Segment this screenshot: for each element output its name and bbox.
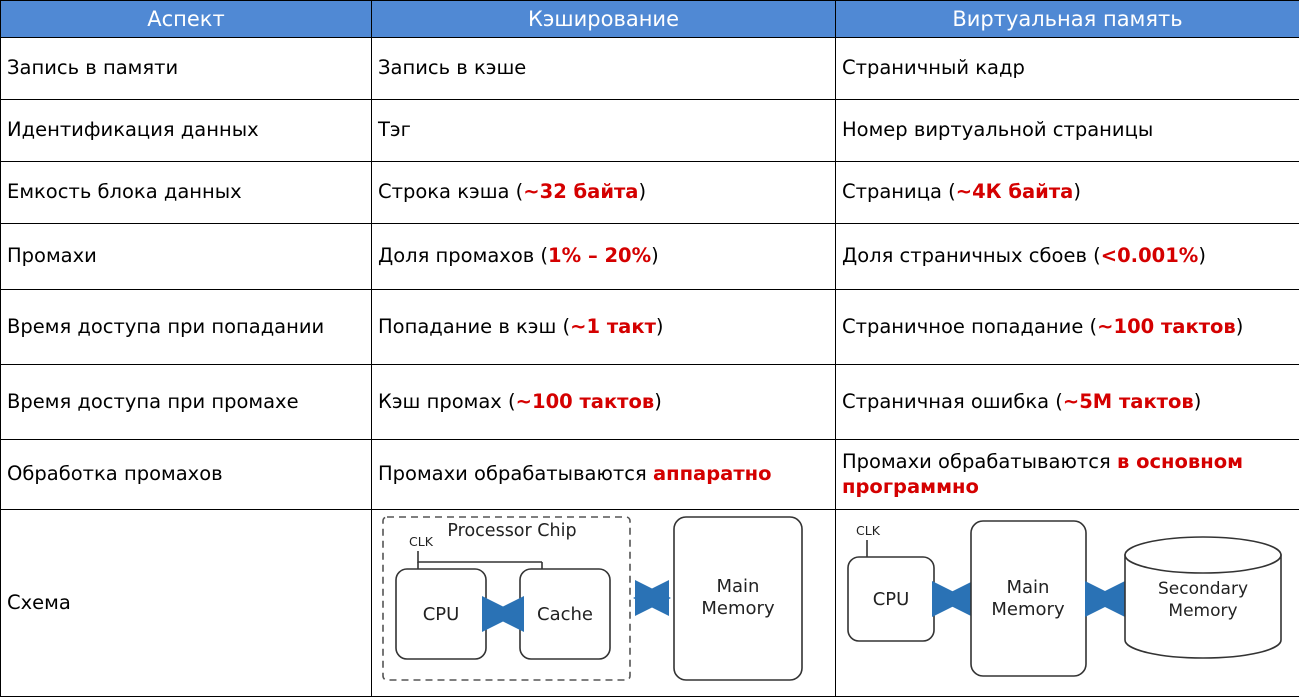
- cache-architecture-diagram: Processor Chip CLK CPU: [372, 510, 835, 696]
- row-vm-value: Страничное попадание (~100 тактов): [836, 290, 1299, 365]
- row-aspect-label: Идентификация данных: [1, 100, 372, 162]
- row-vm-value: Страничный кадр: [836, 38, 1299, 100]
- table-row: Емкость блока данных Строка кэша (~32 ба…: [1, 162, 1299, 224]
- text-plain-tail: ): [1236, 315, 1244, 338]
- text-highlight: ~100 тактов: [516, 390, 655, 413]
- table-row: Промахи Доля промахов (1% – 20%) Доля ст…: [1, 224, 1299, 290]
- cpu-box-label: CPU: [423, 604, 460, 625]
- row-vm-value: Страничная ошибка (~5М тактов): [836, 365, 1299, 440]
- row-cache-value: Промахи обрабатываются аппаратно: [372, 440, 836, 510]
- row-cache-value: Попадание в кэш (~1 такт): [372, 290, 836, 365]
- text-highlight: ~4К байта: [956, 180, 1074, 203]
- table-row: Время доступа при попадании Попадание в …: [1, 290, 1299, 365]
- text-highlight: ~32 байта: [523, 180, 638, 203]
- clock-bus: [418, 551, 542, 562]
- row-aspect-label: Обработка промахов: [1, 440, 372, 510]
- cache-architecture-diagram-cell: Processor Chip CLK CPU: [372, 510, 836, 697]
- row-aspect-label: Время доступа при промахе: [1, 365, 372, 440]
- text-highlight: ~5М тактов: [1063, 390, 1194, 413]
- table-body: Запись в памяти Запись в кэше Страничный…: [1, 38, 1299, 697]
- text-plain: Доля страничных сбоев (: [842, 244, 1101, 267]
- text-plain: Доля промахов (: [378, 244, 548, 267]
- text-plain-tail: ): [656, 315, 664, 338]
- column-header-caching: Кэширование: [372, 1, 836, 38]
- cache-box-label: Cache: [537, 604, 593, 625]
- row-cache-value: Кэш промах (~100 тактов): [372, 365, 836, 440]
- text-highlight: ~1 такт: [570, 315, 656, 338]
- comparison-table: Аспект Кэширование Виртуальная память За…: [0, 0, 1299, 697]
- text-highlight: ~100 тактов: [1097, 315, 1236, 338]
- table-row: Идентификация данных Тэг Номер виртуальн…: [1, 100, 1299, 162]
- row-cache-value: Строка кэша (~32 байта): [372, 162, 836, 224]
- text-plain: Номер виртуальной страницы: [842, 118, 1153, 141]
- row-cache-value: Тэг: [372, 100, 836, 162]
- text-plain: Кэш промах (: [378, 390, 516, 413]
- virtual-memory-architecture-diagram-cell: CLK CPU Main Memory: [836, 510, 1299, 697]
- cpu-box-label: CPU: [873, 589, 910, 610]
- row-vm-value: Номер виртуальной страницы: [836, 100, 1299, 162]
- row-cache-value: Запись в кэше: [372, 38, 836, 100]
- table-row: Запись в памяти Запись в кэше Страничный…: [1, 38, 1299, 100]
- table-row: Обработка промахов Промахи обрабатываютс…: [1, 440, 1299, 510]
- text-plain-tail: ): [1198, 244, 1206, 267]
- text-plain: Промахи обрабатываются: [378, 462, 653, 485]
- column-header-virtual-memory: Виртуальная память: [836, 1, 1299, 38]
- text-plain-tail: ): [638, 180, 646, 203]
- main-memory-label-line2: Memory: [991, 599, 1065, 620]
- row-aspect-label: Емкость блока данных: [1, 162, 372, 224]
- text-plain-tail: ): [1073, 180, 1081, 203]
- text-highlight: аппаратно: [653, 462, 772, 485]
- main-memory-label-line1: Main: [1007, 577, 1050, 598]
- table-row: Время доступа при промахе Кэш промах (~1…: [1, 365, 1299, 440]
- text-plain-tail: ): [651, 244, 659, 267]
- text-plain: Страничное попадание (: [842, 315, 1097, 338]
- vm-diagram-svg: CLK CPU Main Memory: [836, 510, 1298, 694]
- clk-label: CLK: [856, 523, 881, 538]
- text-plain-tail: ): [1194, 390, 1202, 413]
- text-highlight: <0.001%: [1101, 244, 1199, 267]
- row-cache-value: Доля промахов (1% – 20%): [372, 224, 836, 290]
- text-plain: Промахи обрабатываются: [842, 450, 1117, 473]
- row-vm-value: Доля страничных сбоев (<0.001%): [836, 224, 1299, 290]
- text-plain: Строка кэша (: [378, 180, 523, 203]
- text-plain: Страничный кадр: [842, 56, 1025, 79]
- table-header-row: Аспект Кэширование Виртуальная память: [1, 1, 1299, 38]
- cache-diagram-svg: Processor Chip CLK CPU: [372, 510, 834, 694]
- text-highlight: 1% – 20%: [548, 244, 651, 267]
- secondary-memory-label-line1: Secondary: [1158, 579, 1248, 599]
- row-aspect-label: Схема: [1, 510, 372, 697]
- row-aspect-label: Время доступа при попадании: [1, 290, 372, 365]
- secondary-memory-label-line2: Memory: [1168, 601, 1237, 621]
- virtual-memory-architecture-diagram: CLK CPU Main Memory: [836, 510, 1299, 696]
- row-aspect-label: Запись в памяти: [1, 38, 372, 100]
- text-plain: Страничная ошибка (: [842, 390, 1063, 413]
- column-header-aspect: Аспект: [1, 1, 372, 38]
- row-vm-value: Страница (~4К байта): [836, 162, 1299, 224]
- processor-chip-label: Processor Chip: [447, 521, 576, 541]
- text-plain: Попадание в кэш (: [378, 315, 570, 338]
- row-vm-value: Промахи обрабатываются в основном програ…: [836, 440, 1299, 510]
- main-memory-label-line2: Memory: [701, 598, 775, 619]
- table-row-scheme: Схема: [1, 510, 1299, 697]
- row-aspect-label: Промахи: [1, 224, 372, 290]
- text-plain-tail: ): [654, 390, 662, 413]
- text-plain: Страница (: [842, 180, 956, 203]
- text-plain: Тэг: [378, 118, 411, 141]
- clk-label: CLK: [409, 534, 434, 549]
- text-plain: Запись в кэше: [378, 56, 526, 79]
- main-memory-label-line1: Main: [717, 576, 760, 597]
